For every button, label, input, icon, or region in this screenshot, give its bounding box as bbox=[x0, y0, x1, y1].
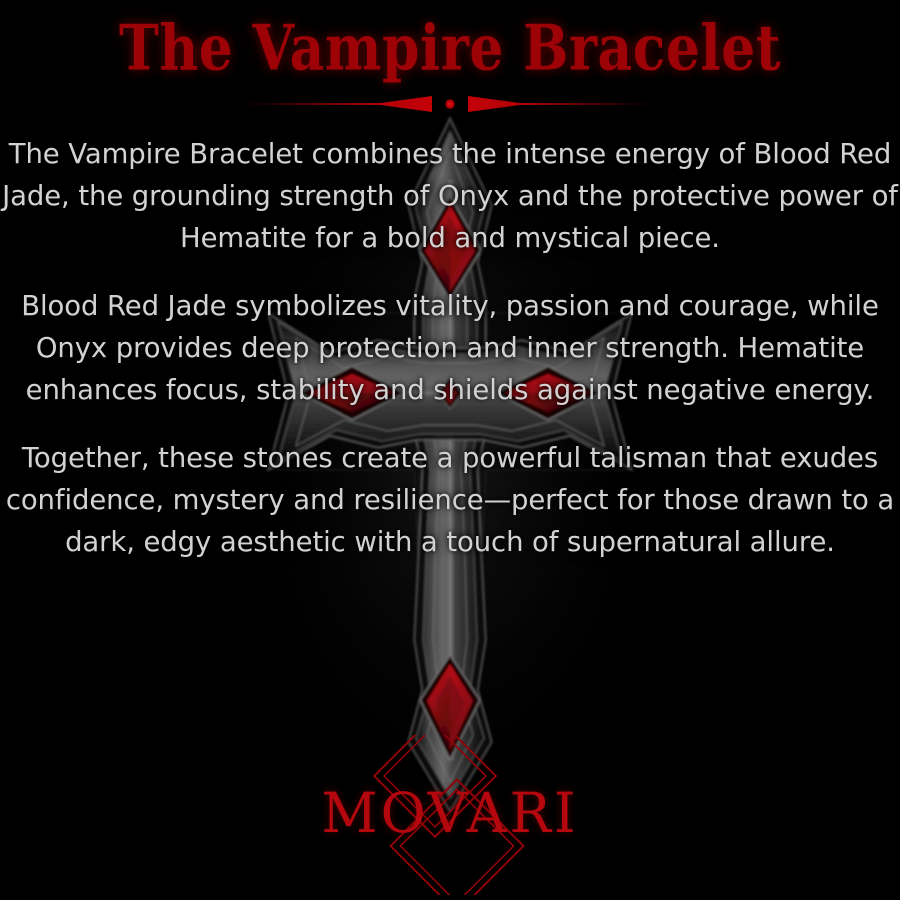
body-copy: The Vampire Bracelet combines the intens… bbox=[0, 133, 900, 563]
poster-canvas: The Vampire Bracelet bbox=[0, 0, 900, 900]
brand-logo: MOVARI bbox=[280, 735, 620, 895]
page-title: The Vampire Bracelet bbox=[27, 8, 873, 89]
title-block: The Vampire Bracelet bbox=[0, 8, 900, 82]
paragraph-2: Blood Red Jade symbolizes vitality, pass… bbox=[0, 285, 900, 411]
paragraph-3: Together, these stones create a powerful… bbox=[0, 437, 900, 563]
brand-name: MOVARI bbox=[280, 783, 620, 843]
paragraph-1: The Vampire Bracelet combines the intens… bbox=[0, 133, 900, 259]
ornamental-divider-icon bbox=[220, 92, 680, 116]
